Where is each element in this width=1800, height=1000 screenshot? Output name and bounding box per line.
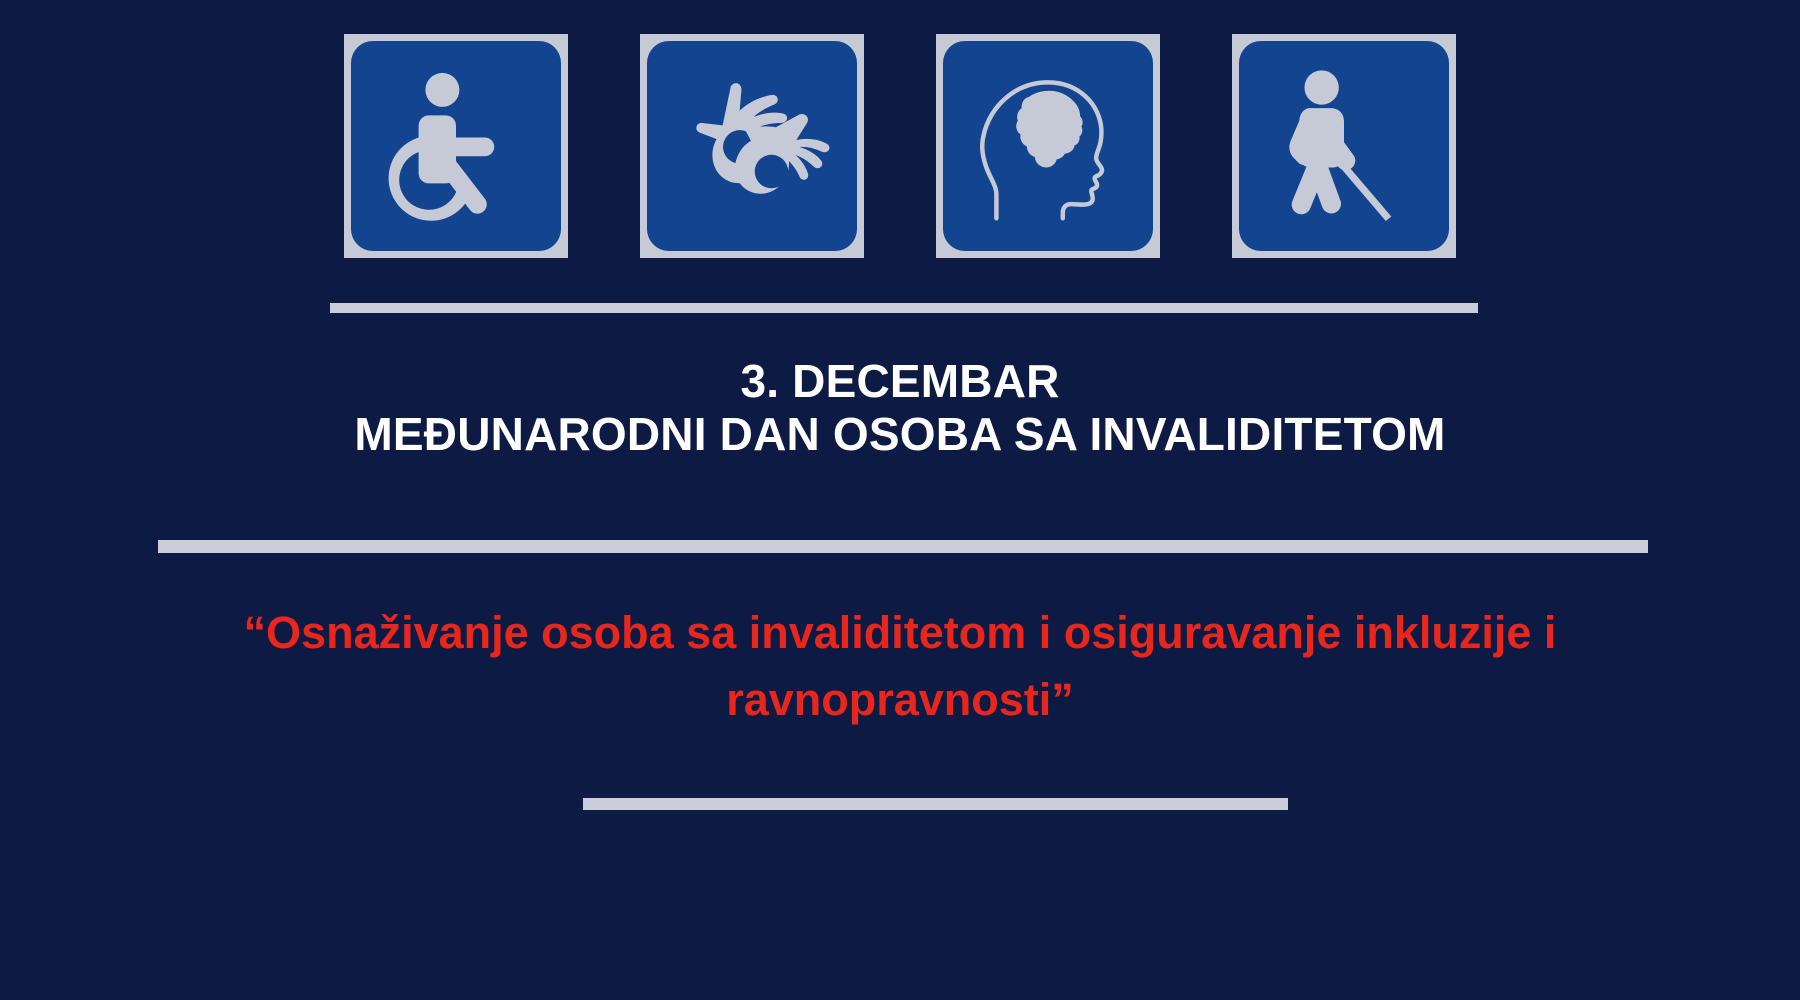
theme-quote: “Osnaživanje osoba sa invaliditetom i os… [0,600,1800,733]
icon-tile-sign-language [640,34,864,258]
icon-tile-cognitive-inner [943,41,1153,251]
slide-canvas: 3. DECEMBAR MEĐUNARODNI DAN OSOBA SA INV… [0,0,1800,1000]
blind-person-white-cane-icon [1258,60,1430,232]
divider-top [330,303,1478,313]
wheelchair-accessibility-icon [371,61,541,231]
icon-tile-sign-language-inner [647,41,857,251]
icon-tile-cognitive [936,34,1160,258]
icon-tile-blind-cane-inner [1239,41,1449,251]
icon-tile-wheelchair [344,34,568,258]
headline-line-date: 3. DECEMBAR [0,355,1800,408]
icon-tile-blind-cane [1232,34,1456,258]
page-title: 3. DECEMBAR MEĐUNARODNI DAN OSOBA SA INV… [0,355,1800,462]
icon-tile-wheelchair-inner [351,41,561,251]
divider-middle [158,540,1648,553]
accessibility-icon-strip [0,34,1800,258]
sign-language-hands-icon [664,58,840,234]
headline-line-title: MEĐUNARODNI DAN OSOBA SA INVALIDITETOM [0,408,1800,461]
head-brain-cognitive-icon [962,60,1134,232]
divider-bottom [583,798,1288,810]
